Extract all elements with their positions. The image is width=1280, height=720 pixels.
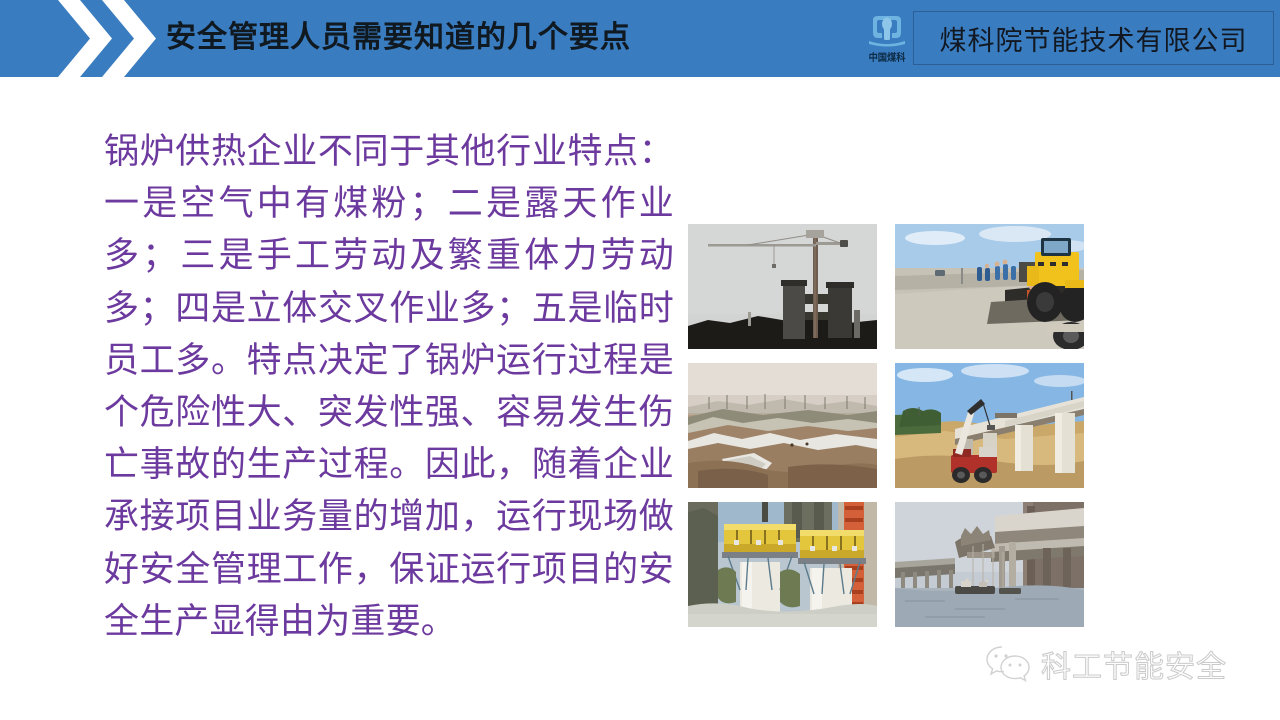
content-paragraph: 锅炉供热企业不同于其他行业特点：一是空气中有煤粉；二是露天作业多；三是手工劳动及… bbox=[104, 126, 674, 648]
photo-grid bbox=[688, 224, 1084, 628]
photo-river-bridge-construction bbox=[895, 502, 1084, 627]
company-name-box: 煤科院节能技术有限公司 bbox=[913, 11, 1274, 65]
watermark-label: 科工节能安全 bbox=[1041, 642, 1227, 686]
china-coal-emblem-icon bbox=[867, 14, 907, 48]
company-logo-label: 中国煤科 bbox=[869, 49, 906, 64]
wechat-icon bbox=[985, 644, 1031, 684]
watermark: 科工节能安全 bbox=[985, 638, 1245, 690]
photo-earthworks-excavation bbox=[688, 363, 877, 488]
company-logo: 中国煤科 bbox=[856, 8, 918, 70]
photo-bridge-girder-erection bbox=[895, 363, 1084, 488]
page-title: 安全管理人员需要知道的几个要点 bbox=[166, 14, 631, 62]
header-bar: 安全管理人员需要知道的几个要点 中国煤科 煤科院节能技术有限公司 bbox=[0, 0, 1280, 77]
double-chevron-right-icon bbox=[56, 0, 176, 77]
photo-pier-formwork-scaffold bbox=[688, 502, 877, 627]
photo-road-paving-roller bbox=[895, 224, 1084, 349]
company-name-label: 煤科院节能技术有限公司 bbox=[940, 19, 1248, 58]
photo-tower-crane-construction bbox=[688, 224, 877, 349]
